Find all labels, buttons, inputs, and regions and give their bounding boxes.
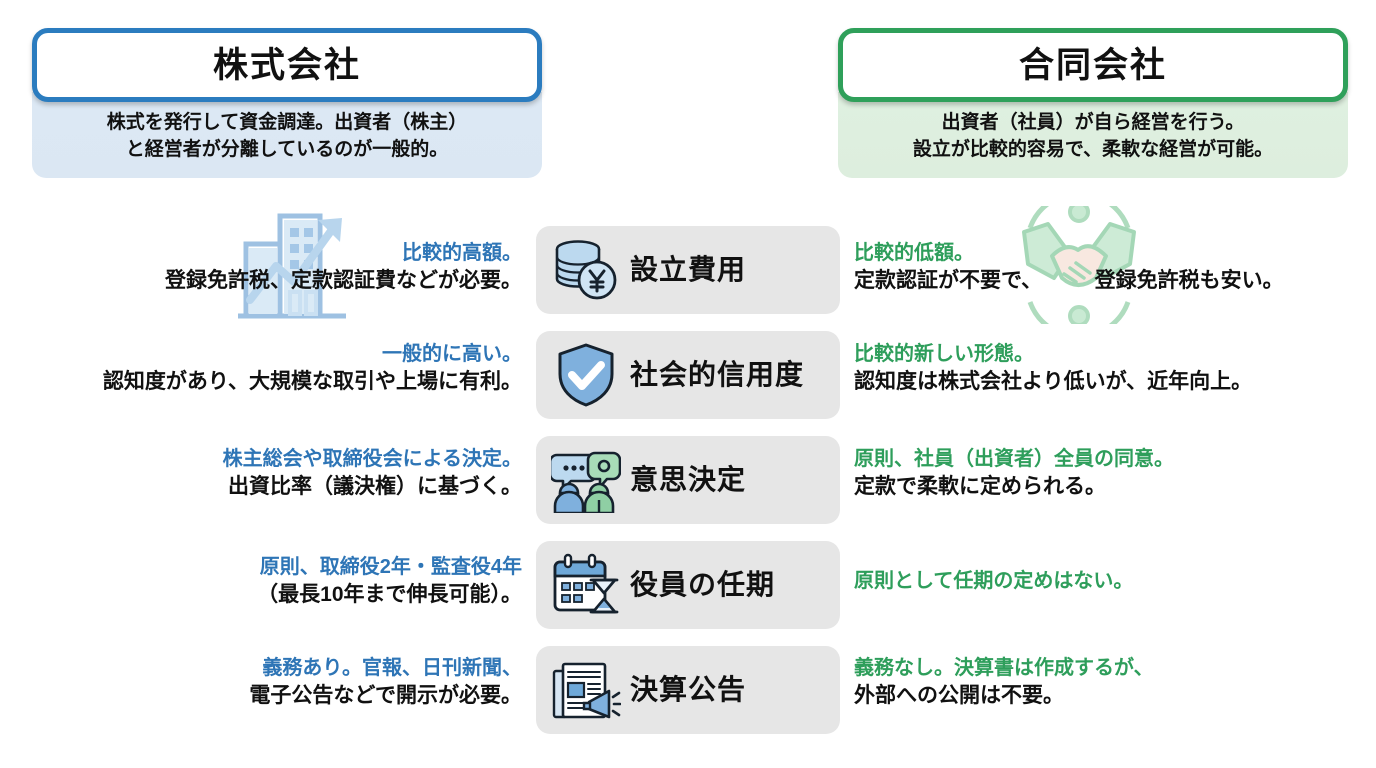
right-row-setup-cost: 比較的低額。 定款認証が不要で、 登録免許税も安い。 — [854, 240, 1362, 295]
left-description-box: 株式を発行して資金調達。出資者（株主） と経営者が分離しているのが一般的。 — [32, 92, 542, 178]
right-row-body-setup-cost: 定款認証が不要で、 登録免許税も安い。 — [854, 267, 1362, 295]
category-card-financial-disclosure[interactable]: 決算公告 — [536, 646, 840, 734]
right-row-social-credibility: 比較的新しい形態。 認知度は株式会社より低いが、近年向上。 — [854, 341, 1362, 396]
comparison-infographic: 株式会社 株式を発行して資金調達。出資者（株主） と経営者が分離しているのが一般… — [0, 0, 1376, 768]
shield-check-icon — [550, 339, 622, 411]
left-title-box: 株式会社 — [32, 28, 542, 102]
left-row-body-social-credibility: 認知度があり、大規模な取引や上場に有利。 — [14, 368, 522, 396]
category-label-decision-making: 意思決定 — [630, 466, 746, 494]
calendar-hourglass-icon — [550, 549, 622, 621]
left-row-financial-disclosure: 義務あり。官報、日刊新聞、 電子公告などで開示が必要。 — [14, 655, 522, 710]
left-description-line-1: 株式を発行して資金調達。出資者（株主） — [42, 110, 532, 137]
right-row-head-social-credibility: 比較的新しい形態。 — [854, 341, 1362, 368]
right-row-head-financial-disclosure: 義務なし。決算書は作成するが、 — [854, 655, 1362, 682]
right-description-line-2: 設立が比較的容易で、柔軟な経営が可能。 — [848, 137, 1338, 164]
newspaper-megaphone-icon — [550, 654, 622, 726]
right-description-line-1: 出資者（社員）が自ら経営を行う。 — [848, 110, 1338, 137]
left-row-social-credibility: 一般的に高い。 認知度があり、大規模な取引や上場に有利。 — [14, 341, 522, 396]
category-card-social-credibility[interactable]: 社会的信用度 — [536, 331, 840, 419]
left-row-head-decision-making: 株主総会や取締役会による決定。 — [14, 446, 522, 473]
left-row-body-financial-disclosure: 電子公告などで開示が必要。 — [14, 682, 522, 710]
category-card-setup-cost[interactable]: 設立費用 — [536, 226, 840, 314]
left-title: 株式会社 — [213, 48, 361, 83]
left-row-decision-making: 株主総会や取締役会による決定。 出資比率（議決権）に基づく。 — [14, 446, 522, 501]
right-row-body-financial-disclosure: 外部への公開は不要。 — [854, 682, 1362, 710]
category-card-decision-making[interactable]: 意思決定 — [536, 436, 840, 524]
left-row-head-setup-cost: 比較的高額。 — [14, 240, 522, 267]
right-description-box: 出資者（社員）が自ら経営を行う。 設立が比較的容易で、柔軟な経営が可能。 — [838, 92, 1348, 178]
left-row-officer-term: 原則、取締役2年・監査役4年 （最長10年まで伸長可能）。 — [14, 554, 522, 609]
category-label-setup-cost: 設立費用 — [630, 256, 746, 284]
right-row-decision-making: 原則、社員（出資者）全員の同意。 定款で柔軟に定められる。 — [854, 446, 1362, 501]
left-column-header: 株式会社 株式を発行して資金調達。出資者（株主） と経営者が分離しているのが一般… — [32, 28, 542, 178]
right-row-body-social-credibility: 認知度は株式会社より低いが、近年向上。 — [854, 368, 1362, 396]
category-label-social-credibility: 社会的信用度 — [630, 361, 804, 389]
people-speech-icon — [550, 444, 622, 516]
right-title-box: 合同会社 — [838, 28, 1348, 102]
category-card-officer-term[interactable]: 役員の任期 — [536, 541, 840, 629]
left-row-body-setup-cost: 登録免許税、定款認証費などが必要。 — [14, 267, 522, 295]
right-column-header: 合同会社 出資者（社員）が自ら経営を行う。 設立が比較的容易で、柔軟な経営が可能… — [838, 28, 1348, 178]
right-title: 合同会社 — [1019, 48, 1167, 83]
category-label-financial-disclosure: 決算公告 — [630, 676, 746, 704]
category-label-officer-term: 役員の任期 — [630, 571, 775, 599]
coins-yen-icon — [550, 234, 622, 306]
right-row-officer-term: 原則として任期の定めはない。 — [854, 568, 1362, 595]
left-row-body-officer-term: （最長10年まで伸長可能）。 — [14, 581, 522, 609]
left-row-setup-cost: 比較的高額。 登録免許税、定款認証費などが必要。 — [14, 240, 522, 295]
right-row-head-setup-cost: 比較的低額。 — [854, 240, 1362, 267]
left-row-head-financial-disclosure: 義務あり。官報、日刊新聞、 — [14, 655, 522, 682]
right-row-head-decision-making: 原則、社員（出資者）全員の同意。 — [854, 446, 1362, 473]
right-row-financial-disclosure: 義務なし。決算書は作成するが、 外部への公開は不要。 — [854, 655, 1362, 710]
right-row-body-decision-making: 定款で柔軟に定められる。 — [854, 473, 1362, 501]
left-row-head-social-credibility: 一般的に高い。 — [14, 341, 522, 368]
right-row-head-officer-term: 原則として任期の定めはない。 — [854, 568, 1362, 595]
left-row-body-decision-making: 出資比率（議決権）に基づく。 — [14, 473, 522, 501]
left-description-line-2: と経営者が分離しているのが一般的。 — [42, 137, 532, 164]
left-row-head-officer-term: 原則、取締役2年・監査役4年 — [14, 554, 522, 581]
category-column: 設立費用 社会的信用度 — [536, 226, 840, 751]
